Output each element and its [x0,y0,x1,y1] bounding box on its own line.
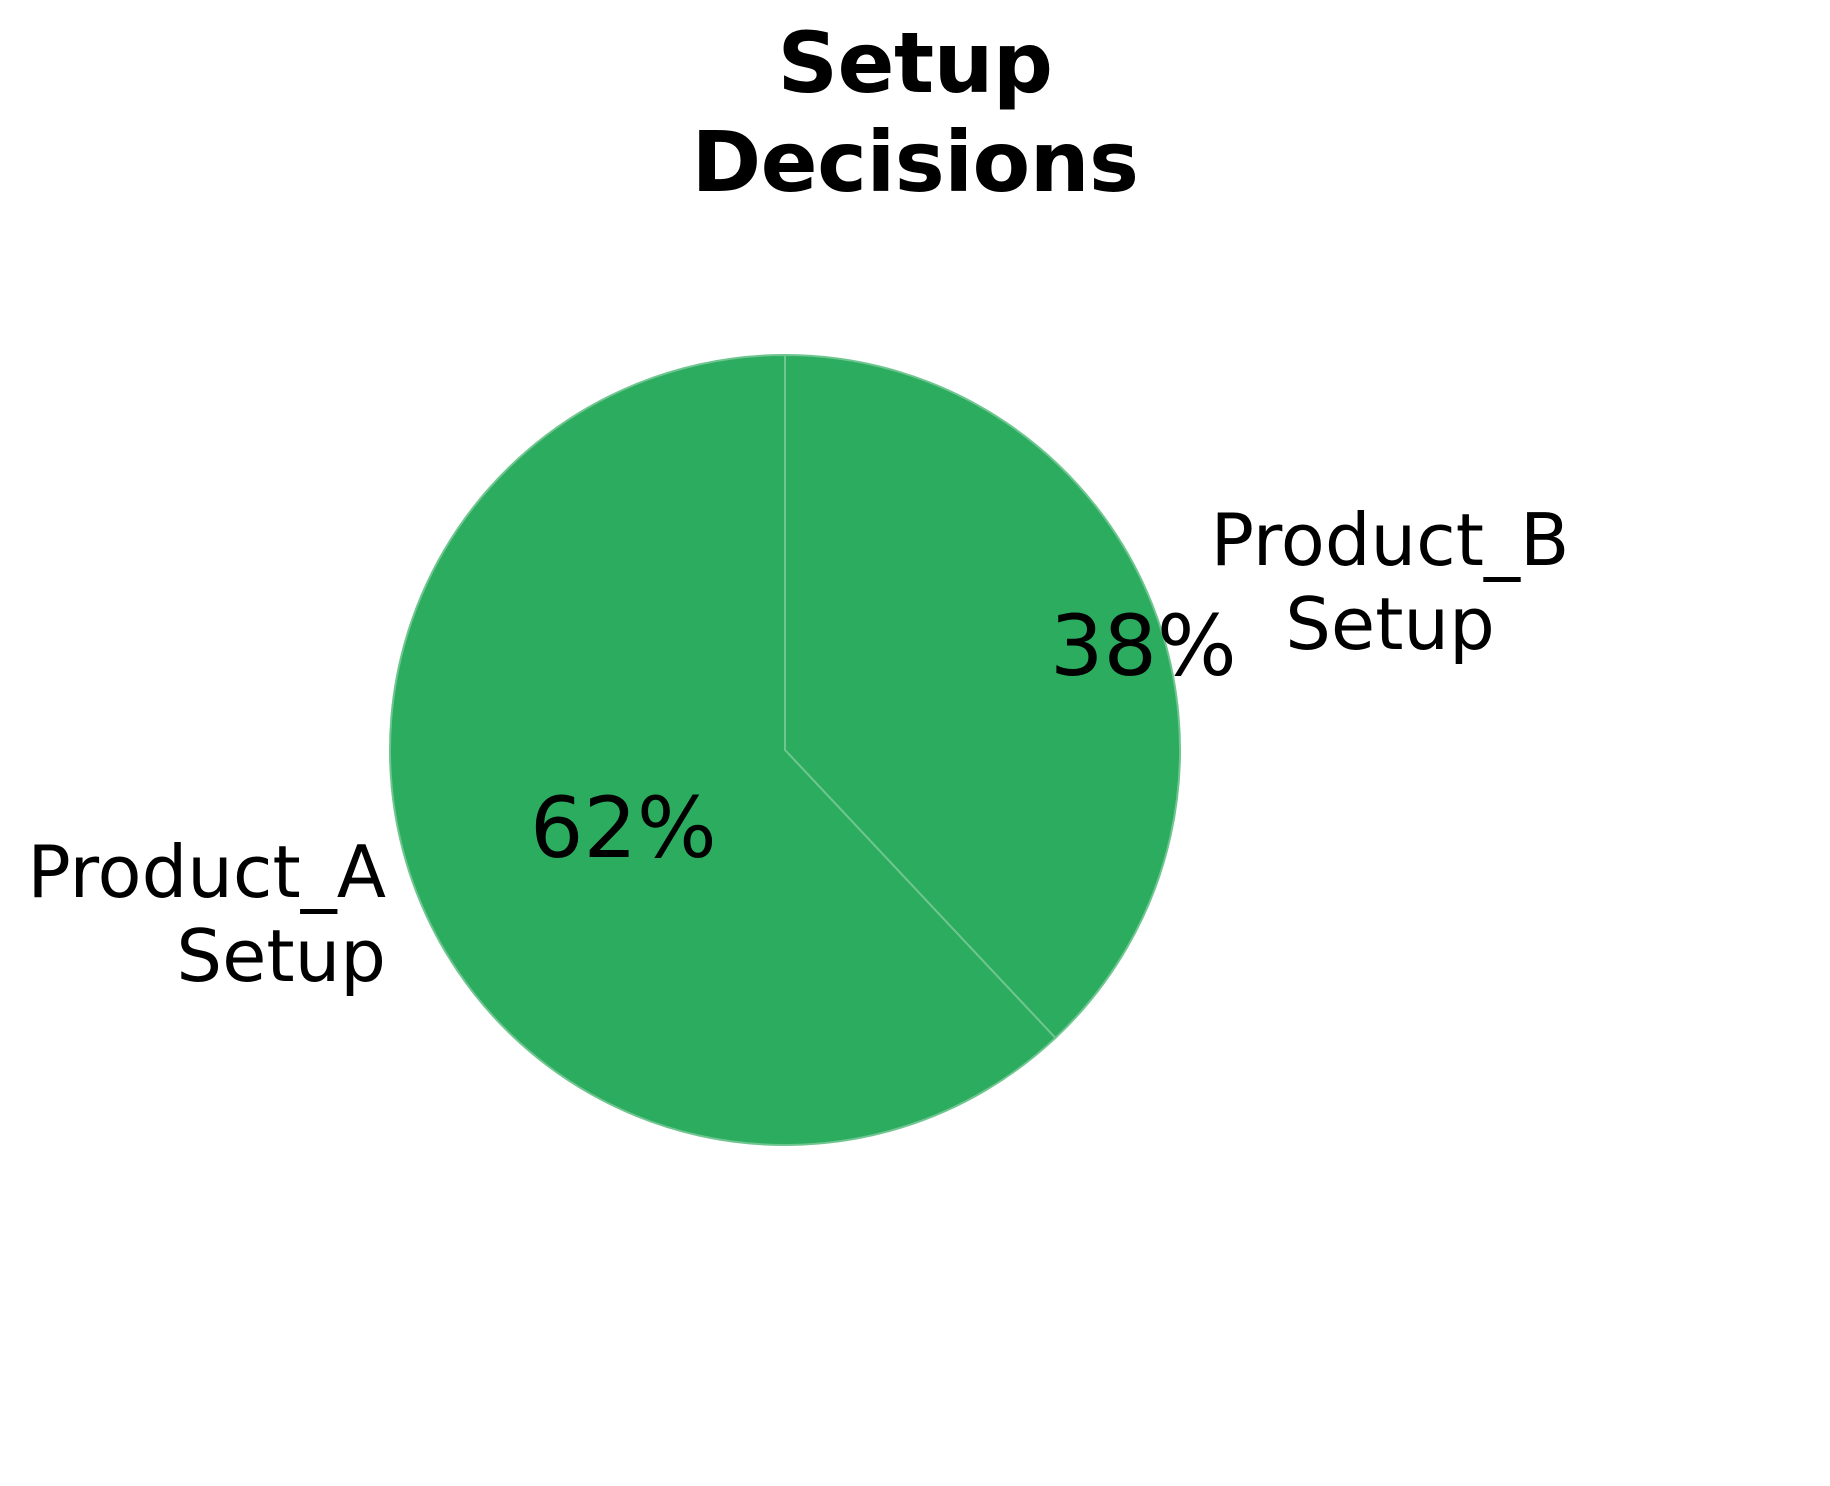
pie-category-label-product-a: Product_A Setup [18,830,386,998]
pie-svg [390,355,1180,1145]
pie-chart-figure: Setup Decisions 38% 62% Product_B Setup … [0,0,1830,1486]
page-title: Setup Decisions [0,14,1830,212]
pie-chart-plot-area [390,355,1180,1145]
pie-percent-label-product-a: 62% [530,786,717,870]
pie-category-label-product-b: Product_B Setup [1185,498,1595,666]
